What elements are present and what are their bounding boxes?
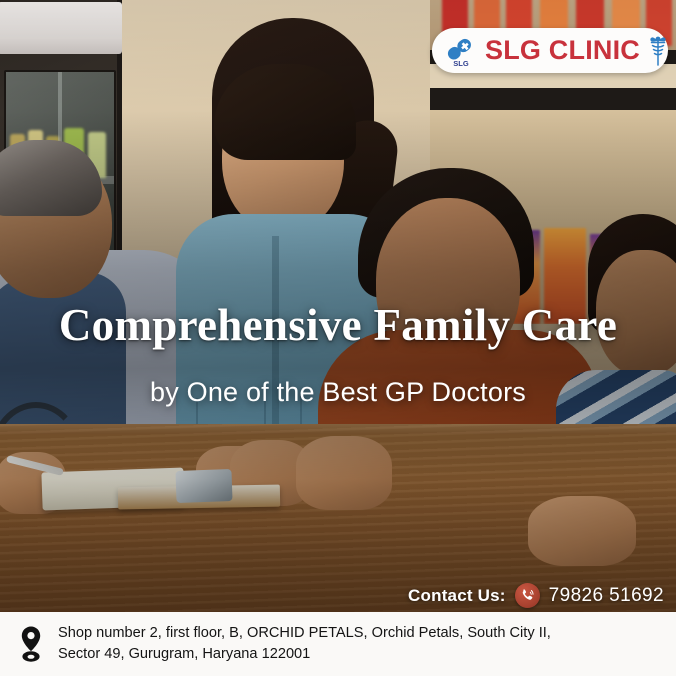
- phone-number[interactable]: 79826 51692: [549, 585, 664, 607]
- hero-headline: Comprehensive Family Care: [0, 303, 676, 348]
- pill-cross-icon: SLG: [444, 34, 478, 68]
- brand-name: SLG CLINIC: [485, 37, 640, 64]
- caduceus-icon: [647, 36, 669, 66]
- address-line-1: Shop number 2, first floor, B, ORCHID PE…: [58, 623, 551, 644]
- hero-subheadline: by One of the Best GP Doctors: [0, 376, 676, 408]
- address-bar: Shop number 2, first floor, B, ORCHID PE…: [0, 612, 676, 676]
- logo-mark-label: SLG: [453, 59, 469, 68]
- contact-label: Contact Us:: [408, 586, 506, 606]
- hand-man-right: [296, 436, 392, 510]
- address-line-2: Sector 49, Gurugram, Haryana 122001: [58, 644, 551, 665]
- location-pin-icon: [16, 625, 46, 663]
- phone-icon[interactable]: [515, 583, 540, 608]
- brand-logo-badge[interactable]: SLG SLG CLINIC: [432, 28, 668, 73]
- cooler-header-panel: [0, 2, 122, 54]
- hand-boy: [528, 496, 636, 566]
- contact-row: Contact Us: 79826 51692: [408, 583, 664, 608]
- address-text: Shop number 2, first floor, B, ORCHID PE…: [58, 623, 551, 665]
- clipboard-clip: [175, 469, 232, 503]
- clinic-ad-poster: SLG SLG CLINIC Comprehensive Family Care…: [0, 0, 676, 676]
